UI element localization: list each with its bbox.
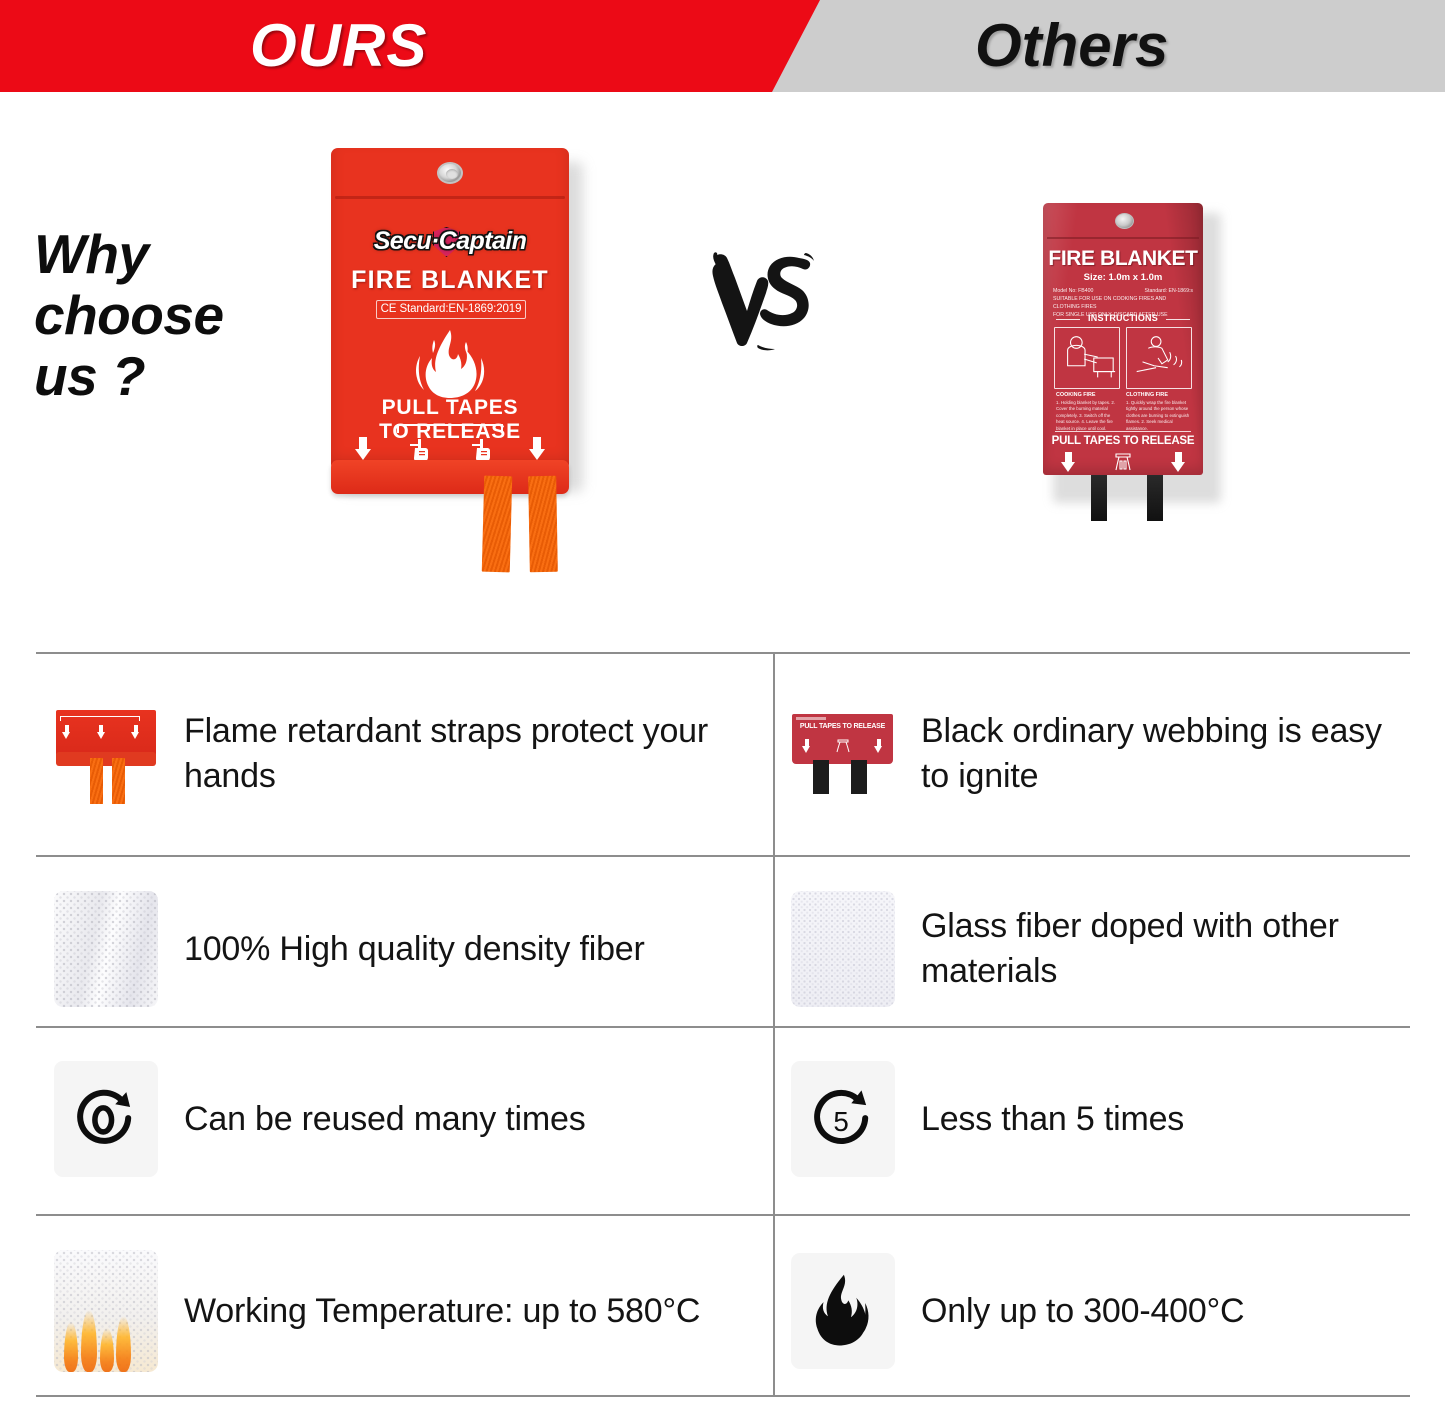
hand-pull-icon	[406, 436, 432, 462]
instructions-header: INSTRUCTIONS	[1053, 313, 1193, 323]
flame-lick	[64, 1322, 78, 1372]
our-product-package: Secu·Captain FIRE BLANKET CE Standard:EN…	[331, 148, 574, 488]
flame-lick	[100, 1328, 114, 1372]
fiber-texture	[791, 891, 895, 1007]
header-banner: OURS Others	[0, 0, 1445, 92]
desc-line-1: SUITABLE FOR USE ON COOKING FIRES AND CL…	[1053, 295, 1193, 311]
reuse-count-value: 5	[833, 1106, 848, 1137]
package-body: Secu·Captain FIRE BLANKET CE Standard:EN…	[331, 148, 569, 468]
plain-fiber-texture-icon	[791, 891, 895, 1007]
mini-package-body	[56, 710, 156, 758]
table-row: Can be reused many times	[54, 1060, 754, 1178]
hand-pull-icon	[1110, 452, 1136, 472]
package-title: FIRE BLANKET	[1043, 247, 1203, 271]
black-webbing-strap	[813, 760, 829, 794]
hand-pull-icon	[468, 436, 494, 462]
table-divider	[36, 1026, 1410, 1028]
flame-lick	[81, 1310, 97, 1372]
black-webbing-strap	[851, 760, 867, 794]
table-row: Only up to 300-400°C	[791, 1250, 1406, 1372]
table-divider	[36, 855, 1410, 857]
list-cooking-fire: 1. Holding blanket by tapes. 2. Cover th…	[1056, 400, 1120, 432]
dense-fiber-texture-icon	[54, 891, 158, 1007]
table-center-divider	[773, 652, 775, 1397]
arrow-down-icon	[355, 437, 371, 461]
black-webbing-strap	[1091, 473, 1107, 521]
list-clothing-fire: 1. Quickly wrap the fire blanket tightly…	[1126, 400, 1190, 432]
pull-bracket	[397, 424, 503, 433]
orange-strap	[90, 758, 103, 804]
instruction-panels	[1054, 327, 1192, 389]
pull-line-1: PULL TAPES	[331, 396, 569, 420]
hand-pull-icon	[833, 738, 853, 754]
flame-lick	[116, 1316, 131, 1372]
row-label-others: Black ordinary webbing is easy to ignite	[921, 709, 1406, 799]
orange-straps-package-icon	[54, 696, 158, 812]
caption-clothing-fire: CLOTHING FIRE	[1126, 392, 1168, 398]
header-others-label: Others	[975, 4, 1375, 88]
row-label-ours: Can be reused many times	[184, 1097, 586, 1142]
arrow-down-icon	[62, 725, 71, 740]
fiber-texture	[54, 891, 158, 1007]
why-choose-line-2: choose	[34, 285, 304, 346]
row-label-others: Glass fiber doped with other materials	[921, 904, 1406, 994]
mini-seam	[796, 717, 826, 720]
reuse-infinity-icon	[54, 1061, 158, 1177]
arrow-down-icon	[874, 739, 883, 754]
brand-logo: Secu·Captain	[347, 224, 553, 258]
mini-package-flap	[56, 752, 156, 766]
table-row: 5 Less than 5 times	[791, 1060, 1406, 1178]
header-ours-label: OURS	[250, 4, 550, 88]
reuse-five-icon: 5	[791, 1061, 895, 1177]
table-row: Working Temperature: up to 580°C	[54, 1250, 754, 1372]
mini-icons-row	[802, 736, 883, 756]
package-title: FIRE BLANKET	[331, 266, 569, 295]
mini-pull-label: PULL TAPES TO RELEASE	[792, 723, 893, 730]
arrow-down-icon	[529, 437, 545, 461]
standard-label: Standard: EN-1869:s	[1145, 287, 1193, 295]
mini-package-body: PULL TAPES TO RELEASE	[792, 714, 893, 764]
package-seam	[1047, 237, 1199, 239]
pull-tapes-instruction: PULL TAPES TO RELEASE	[1043, 435, 1203, 447]
table-row: Glass fiber doped with other materials	[791, 890, 1406, 1008]
fiber-with-flames-icon	[54, 1250, 158, 1372]
why-choose-us-heading: Why choose us ?	[34, 224, 304, 407]
flame-icon	[791, 1253, 895, 1369]
table-divider	[36, 652, 1410, 654]
flame-icon	[403, 326, 497, 398]
clothing-fire-illustration	[1126, 327, 1192, 389]
row-label-ours: Working Temperature: up to 580°C	[184, 1289, 700, 1334]
arrow-down-icon	[97, 725, 106, 740]
table-divider	[36, 1214, 1410, 1216]
row-label-ours: 100% High quality density fiber	[184, 927, 645, 972]
table-row: PULL TAPES TO RELEASE	[791, 688, 1406, 820]
arrow-down-icon	[1061, 452, 1075, 472]
arrow-down-icon	[802, 739, 811, 754]
orange-strap	[482, 476, 513, 573]
fiber-texture-with-flames	[54, 1250, 158, 1372]
why-choose-line-3: us ?	[34, 346, 304, 407]
pull-icons-row	[1061, 451, 1185, 473]
model-label: Model No: FB400	[1053, 287, 1093, 295]
package-size: Size: 1.0m x 1.0m	[1043, 272, 1203, 283]
grommet-icon	[1115, 213, 1134, 229]
competitor-product-package: FIRE BLANKET Size: 1.0m x 1.0m Model No:…	[1043, 203, 1215, 503]
mini-icons-row	[62, 722, 140, 742]
grommet-hole	[446, 169, 458, 179]
vs-icon	[700, 244, 830, 364]
orange-strap	[528, 476, 558, 572]
cooking-fire-illustration	[1054, 327, 1120, 389]
package-standard: CE Standard:EN-1869:2019	[376, 300, 526, 319]
grommet-icon	[437, 162, 463, 184]
arrow-down-icon	[1171, 452, 1185, 472]
why-choose-line-1: Why	[34, 224, 304, 285]
orange-strap	[112, 758, 125, 804]
row-label-ours: Flame retardant straps protect your hand…	[184, 709, 754, 799]
arrow-down-icon	[131, 725, 140, 740]
table-divider	[36, 1395, 1410, 1397]
caption-cooking-fire: COOKING FIRE	[1056, 392, 1096, 398]
row-label-others: Only up to 300-400°C	[921, 1289, 1244, 1334]
package-seam	[335, 196, 565, 199]
black-webbing-strap	[1147, 473, 1163, 521]
brand-name: Secu·Captain	[347, 224, 553, 258]
table-row: 100% High quality density fiber	[54, 890, 754, 1008]
hero-section: Why choose us ? Secu·Captain FIRE BLANKE…	[0, 92, 1445, 637]
package-body: FIRE BLANKET Size: 1.0m x 1.0m Model No:…	[1043, 203, 1203, 475]
black-webbing-package-icon: PULL TAPES TO RELEASE	[791, 696, 895, 812]
comparison-table: Flame retardant straps protect your hand…	[36, 652, 1410, 1397]
row-label-others: Less than 5 times	[921, 1097, 1184, 1142]
table-row: Flame retardant straps protect your hand…	[54, 688, 754, 820]
mini-bracket	[60, 716, 140, 721]
divider	[1055, 431, 1191, 432]
